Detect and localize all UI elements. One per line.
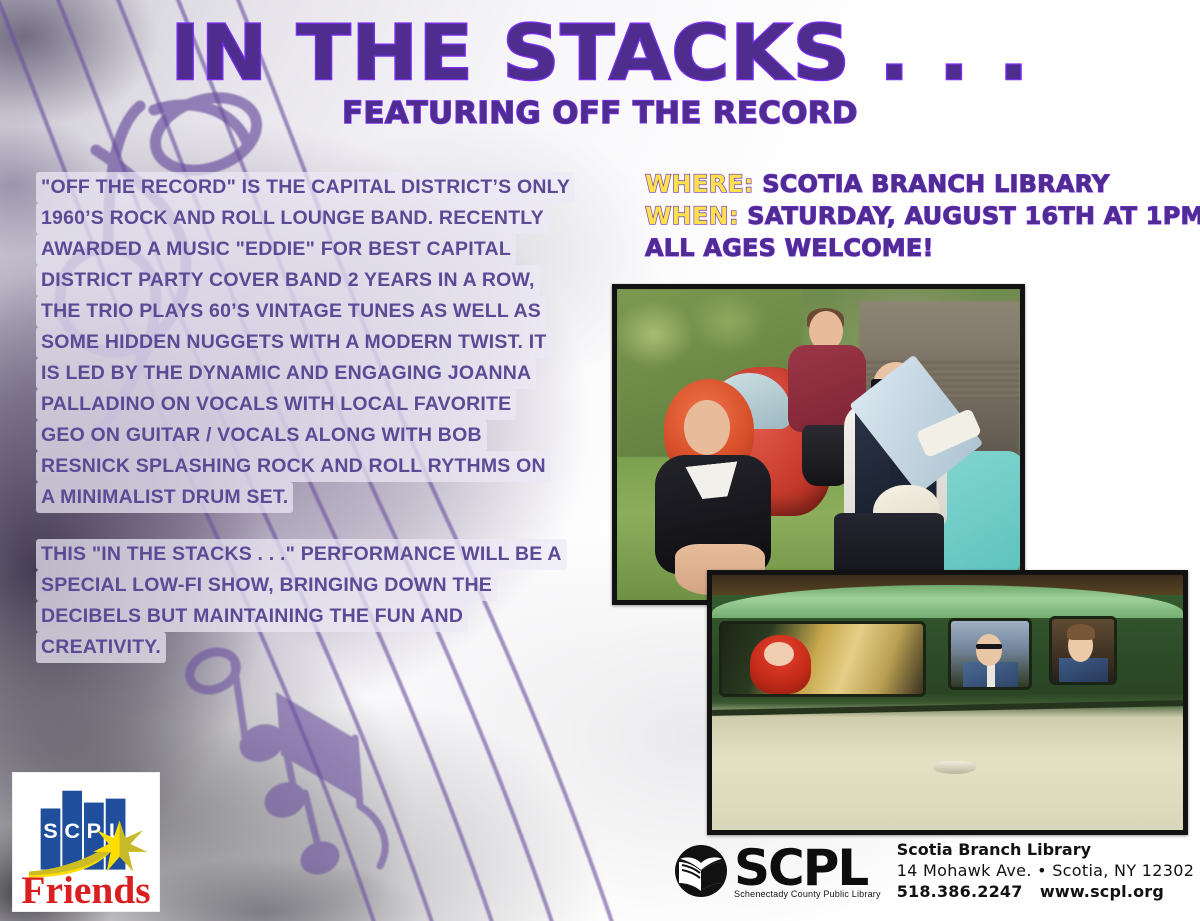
friends-wordmark: Friends <box>21 868 150 911</box>
paragraph-2: THIS "IN THE STACKS . . ." PERFORMANCE W… <box>36 539 616 663</box>
footer-phone-web: 518.386.2247 www.scpl.org <box>897 881 1195 902</box>
event-where-label: WHERE: <box>645 170 754 198</box>
photo-person-seated-singer <box>649 379 794 590</box>
band-photo-scene <box>617 289 1020 600</box>
photo-blue-shirt <box>1059 658 1108 683</box>
event-where-value: SCOTIA BRANCH LIBRARY <box>762 170 1109 198</box>
event-when-label: WHEN: <box>645 202 739 230</box>
poster-canvas: IN THE STACKS . . . FEATURING OFF THE RE… <box>0 0 1200 921</box>
footer-branding: SCPL Schenectady County Public Library S… <box>672 840 1194 902</box>
svg-text:S: S <box>43 818 57 843</box>
text-line: A MINIMALIST DRUM SET. <box>36 482 293 513</box>
footer-website[interactable]: www.scpl.org <box>1040 882 1164 901</box>
open-book-icon <box>672 843 730 899</box>
event-note: ALL AGES WELCOME! <box>645 232 1190 264</box>
footer-branch-name: Scotia Branch Library <box>897 840 1195 860</box>
text-line: THE TRIO PLAYS 60’S VINTAGE TUNES AS WEL… <box>36 296 546 327</box>
scpl-logo: SCPL Schenectady County Public Library <box>672 843 881 899</box>
van-photo-scene <box>712 575 1183 830</box>
footer-phone: 518.386.2247 <box>897 882 1023 901</box>
band-photo-van <box>707 570 1188 835</box>
photo-head <box>976 634 1003 665</box>
text-line: SOME HIDDEN NUGGETS WITH A MODERN TWIST.… <box>36 327 551 358</box>
photo-person-guitarist <box>827 357 1004 593</box>
photo-van-window-middle <box>948 618 1033 689</box>
photo-van-door-handle <box>933 761 975 774</box>
text-line: 1960’S ROCK AND ROLL LOUNGE BAND. RECENT… <box>36 203 549 234</box>
text-line: SPECIAL LOW-FI SHOW, BRINGING DOWN THE <box>36 570 497 601</box>
description-text: "OFF THE RECORD" IS THE CAPITAL DISTRICT… <box>36 172 616 663</box>
photo-van-roof <box>712 585 1183 618</box>
sunglasses-icon <box>976 644 1003 650</box>
footer-contact: Scotia Branch Library 14 Mohawk Ave. • S… <box>897 840 1195 902</box>
scpl-friends-logo: S C P L Friends <box>12 772 160 912</box>
text-line: GEO ON GUITAR / VOCALS ALONG WITH BOB <box>36 420 487 451</box>
text-line: IS LED BY THE DYNAMIC AND ENGAGING JOANN… <box>36 358 536 389</box>
title-block: IN THE STACKS . . . FEATURING OFF THE RE… <box>0 16 1200 131</box>
paragraph-1: "OFF THE RECORD" IS THE CAPITAL DISTRICT… <box>36 172 616 513</box>
text-line: "OFF THE RECORD" IS THE CAPITAL DISTRICT… <box>36 172 575 203</box>
photo-van-window-rear <box>1049 616 1117 685</box>
page-title: IN THE STACKS . . . <box>0 16 1200 90</box>
text-line: PALLADINO ON VOCALS WITH LOCAL FAVORITE <box>36 389 516 420</box>
scpl-wordmark: SCPL <box>734 845 881 891</box>
photo-hair <box>1067 624 1096 640</box>
svg-text:P: P <box>87 818 101 843</box>
event-when-value: SATURDAY, AUGUST 16TH AT 1PM <box>747 202 1200 230</box>
text-line: RESNICK SPLASHING ROCK AND ROLL RYTHMS O… <box>36 451 551 482</box>
event-where-row: WHERE: SCOTIA BRANCH LIBRARY <box>645 168 1190 200</box>
text-line: DISTRICT PARTY COVER BAND 2 YEARS IN A R… <box>36 265 540 296</box>
event-details: WHERE: SCOTIA BRANCH LIBRARY WHEN: SATUR… <box>645 168 1190 264</box>
photo-van-window-front <box>719 621 926 698</box>
event-when-row: WHEN: SATURDAY, AUGUST 16TH AT 1PM <box>645 200 1190 232</box>
text-line: DECIBELS BUT MAINTAINING THE FUN AND <box>36 601 468 632</box>
page-subtitle: FEATURING OFF THE RECORD <box>0 96 1200 131</box>
photo-tie <box>987 663 995 687</box>
text-line: AWARDED A MUSIC "EDDIE" FOR BEST CAPITAL <box>36 234 516 265</box>
band-photo-outdoors <box>612 284 1025 605</box>
svg-text:C: C <box>64 818 80 843</box>
footer-address: 14 Mohawk Ave. • Scotia, NY 12302 <box>897 860 1195 881</box>
text-line: THIS "IN THE STACKS . . ." PERFORMANCE W… <box>36 539 567 570</box>
scpl-tagline: Schenectady County Public Library <box>734 889 881 899</box>
text-line: CREATIVITY. <box>36 632 166 663</box>
